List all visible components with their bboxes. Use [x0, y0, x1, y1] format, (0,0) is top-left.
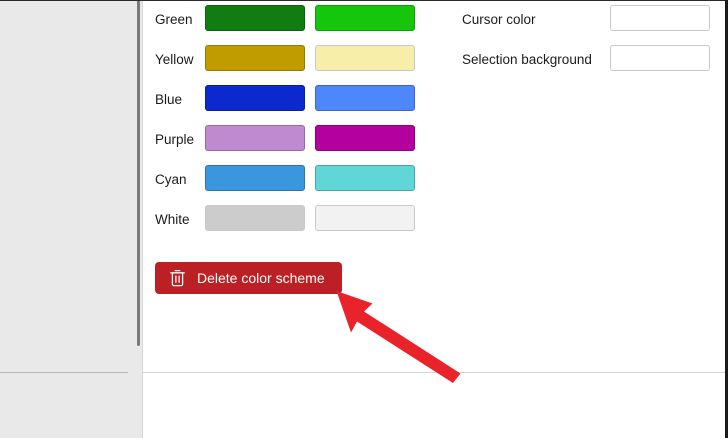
navigation-pane[interactable]: [0, 0, 143, 438]
color-row-green: Green: [155, 2, 425, 42]
color-swatch-green-bright[interactable]: [315, 5, 415, 31]
field-row-selection-background: Selection background: [462, 42, 717, 82]
color-row-label: Green: [155, 11, 193, 29]
cursor-color-label: Cursor color: [462, 11, 536, 29]
selection-background-input[interactable]: [610, 45, 710, 71]
color-swatch-white-normal[interactable]: [205, 205, 305, 231]
trash-icon: [169, 269, 186, 287]
color-swatch-yellow-bright[interactable]: [315, 45, 415, 71]
color-swatch-purple-bright[interactable]: [315, 125, 415, 151]
color-swatch-blue-bright[interactable]: [315, 85, 415, 111]
vertical-scrollbar[interactable]: [137, 0, 140, 346]
color-swatch-green-normal[interactable]: [205, 5, 305, 31]
color-row-cyan: Cyan: [155, 162, 425, 202]
delete-color-scheme-label: Delete color scheme: [197, 269, 325, 287]
color-row-label: Cyan: [155, 171, 187, 189]
selection-background-label: Selection background: [462, 51, 592, 69]
color-row-label: Purple: [155, 131, 194, 149]
color-row-purple: Purple: [155, 122, 425, 162]
nav-footer-divider: [0, 372, 128, 373]
color-swatch-cyan-bright[interactable]: [315, 165, 415, 191]
cursor-and-selection-fields: Cursor color Selection background: [462, 2, 717, 82]
color-row-label: White: [155, 211, 190, 229]
color-swatch-cyan-normal[interactable]: [205, 165, 305, 191]
field-row-cursor-color: Cursor color: [462, 2, 717, 42]
settings-window: Green Yellow Blue Purple Cyan White: [0, 0, 728, 438]
color-swatch-purple-normal[interactable]: [205, 125, 305, 151]
color-swatch-yellow-normal[interactable]: [205, 45, 305, 71]
color-swatch-blue-normal[interactable]: [205, 85, 305, 111]
color-row-yellow: Yellow: [155, 42, 425, 82]
content-bottom-divider: [143, 372, 728, 373]
color-row-white: White: [155, 202, 425, 242]
color-scheme-table: Green Yellow Blue Purple Cyan White: [155, 2, 425, 242]
cursor-color-input[interactable]: [610, 5, 710, 31]
color-swatch-white-bright[interactable]: [315, 205, 415, 231]
window-frame-top: [0, 0, 728, 1]
color-row-label: Blue: [155, 91, 182, 109]
color-row-blue: Blue: [155, 82, 425, 122]
color-row-label: Yellow: [155, 51, 194, 69]
delete-color-scheme-button[interactable]: Delete color scheme: [155, 262, 342, 294]
